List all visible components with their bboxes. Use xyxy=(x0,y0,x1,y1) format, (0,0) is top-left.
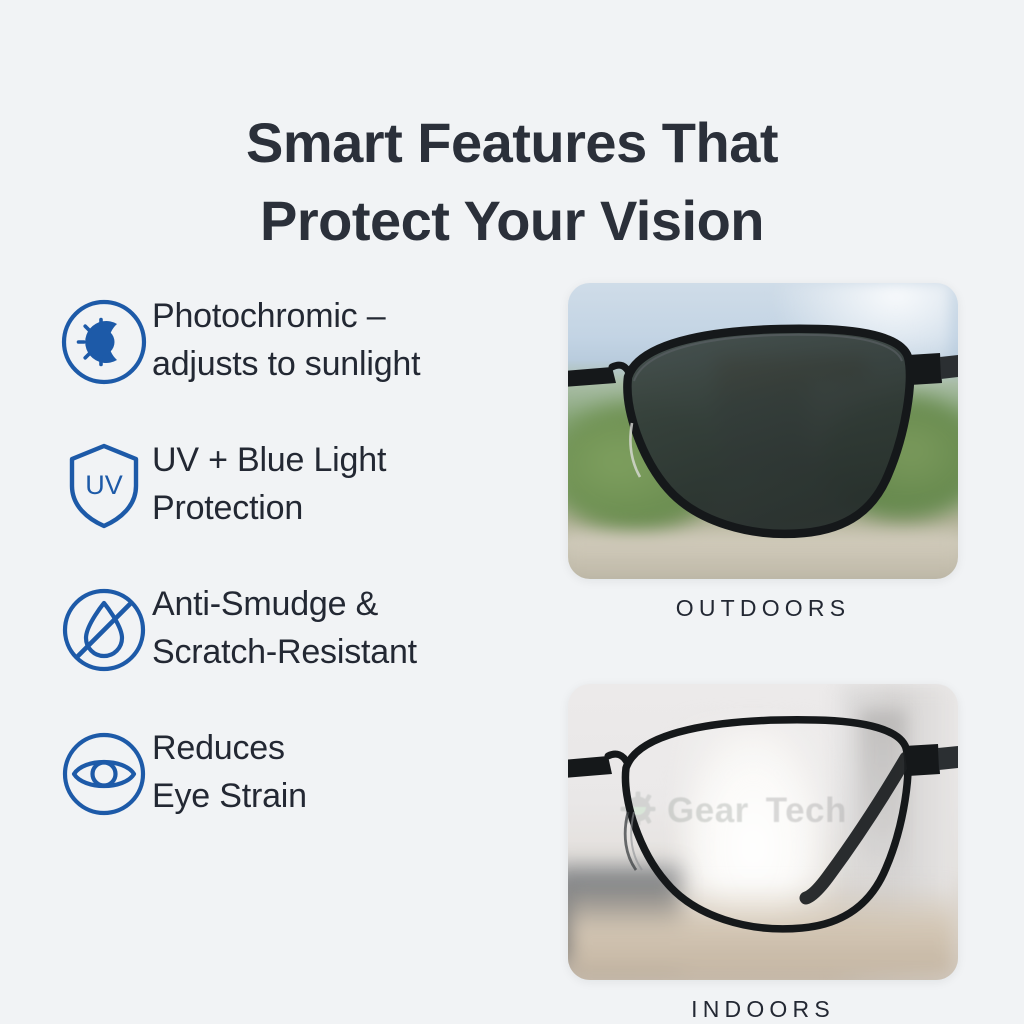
feature-item-eye-strain: Reduces Eye Strain xyxy=(56,720,556,822)
feature-list: Photochromic – adjusts to sunlight UV UV… xyxy=(56,288,556,822)
feature-label-photochromic: Photochromic – adjusts to sunlight xyxy=(152,288,420,388)
outdoors-photo-block: OUTDOORS xyxy=(568,283,958,622)
feature-label-anti-smudge: Anti-Smudge & Scratch-Resistant xyxy=(152,576,417,676)
uv-shield-icon-text: UV xyxy=(85,470,123,500)
indoors-caption: INDOORS xyxy=(568,996,958,1023)
tinted-glasses-overlay xyxy=(568,283,958,579)
indoors-photo-block: Gear Tech xyxy=(568,684,958,1023)
no-water-droplet-icon xyxy=(56,582,152,678)
page-title: Smart Features That Protect Your Vision xyxy=(0,104,1024,260)
uv-shield-icon: UV xyxy=(56,438,152,534)
feature-item-photochromic: Photochromic – adjusts to sunlight xyxy=(56,288,556,390)
feature-label-eye-strain: Reduces Eye Strain xyxy=(152,720,307,820)
outdoors-photo[interactable] xyxy=(568,283,958,579)
feature-item-uv-protection: UV UV + Blue Light Protection xyxy=(56,432,556,534)
page-title-line-2: Protect Your Vision xyxy=(0,182,1024,260)
photochromic-sun-moon-icon xyxy=(56,294,152,390)
outdoors-caption: OUTDOORS xyxy=(568,595,958,622)
eye-icon xyxy=(56,726,152,822)
page-title-line-1: Smart Features That xyxy=(0,104,1024,182)
comparison-photos: OUTDOORS xyxy=(568,283,958,1023)
indoors-photo[interactable]: Gear Tech xyxy=(568,684,958,980)
clear-glasses-overlay xyxy=(568,684,958,980)
feature-label-uv-protection: UV + Blue Light Protection xyxy=(152,432,386,532)
feature-item-anti-smudge: Anti-Smudge & Scratch-Resistant xyxy=(56,576,556,678)
